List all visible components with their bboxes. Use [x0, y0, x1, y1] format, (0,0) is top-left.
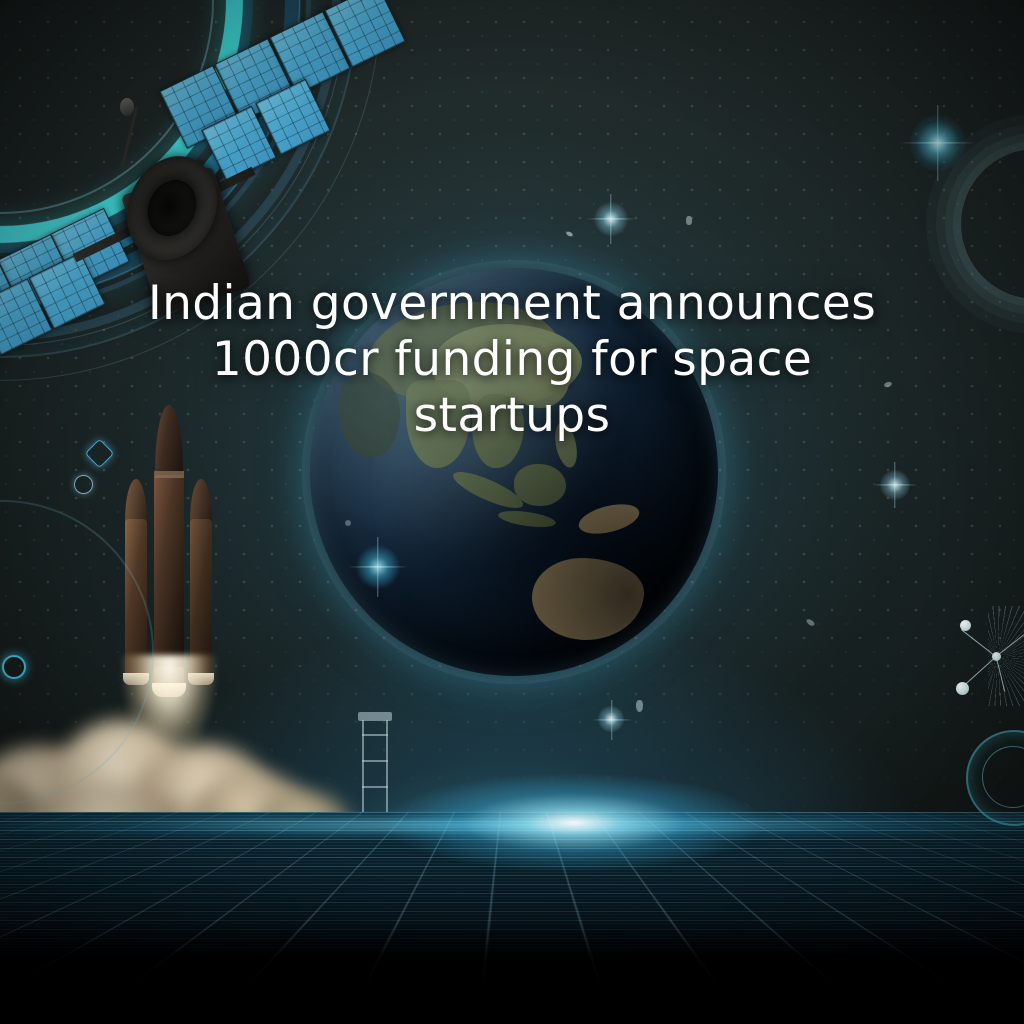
- promo-image-canvas: Indian government announces 1000cr fundi…: [0, 0, 1024, 1024]
- vignette-overlay: [0, 0, 1024, 1024]
